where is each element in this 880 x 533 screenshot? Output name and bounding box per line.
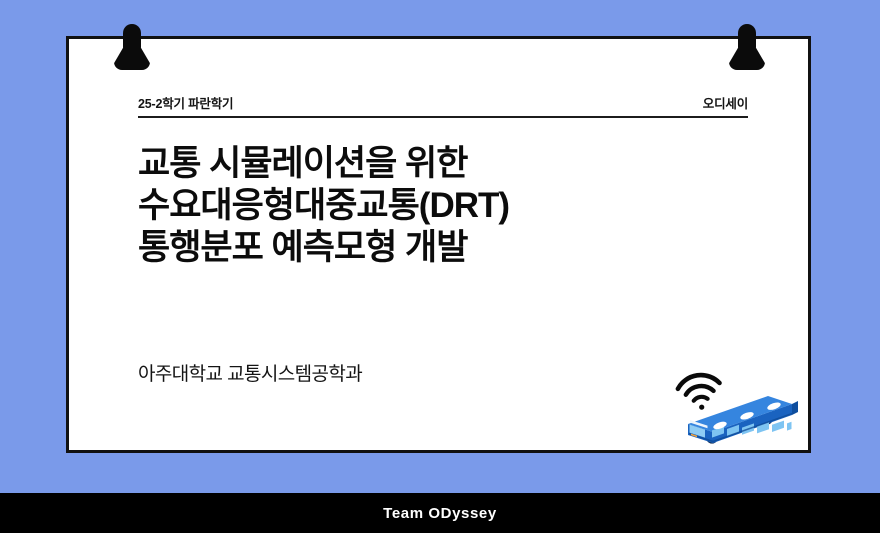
page-title-line-2: 수요대응형대중교통(DRT) (138, 185, 788, 227)
slide-paper: 25-2학기 파란학기 오디세이 교통 시뮬레이션을 위한 수요대응형대중교통(… (66, 36, 811, 453)
affiliation-label: 아주대학교 교통시스템공학과 (138, 359, 362, 386)
page-title-line-3: 통행분포 예측모형 개발 (138, 227, 788, 269)
drt-bus-artwork (672, 362, 802, 452)
header-term-label: 25-2학기 파란학기 (138, 93, 233, 112)
binder-pin-left (110, 24, 154, 70)
bus-icon (688, 396, 798, 444)
header-program-label: 오디세이 (703, 93, 748, 112)
page-title: 교통 시뮬레이션을 위한 수요대응형대중교통(DRT) 통행분포 예측모형 개발 (138, 143, 788, 269)
presentation-title-slide: 25-2학기 파란학기 오디세이 교통 시뮬레이션을 위한 수요대응형대중교통(… (0, 0, 880, 533)
slide-header: 25-2학기 파란학기 오디세이 (138, 93, 748, 112)
binder-pin-right (725, 24, 769, 70)
pin-base-icon (114, 46, 150, 70)
page-title-line-1: 교통 시뮬레이션을 위한 (138, 143, 788, 185)
wifi-signal-icon (676, 372, 722, 412)
team-name-label: Team ODyssey (383, 505, 497, 522)
slide-footer: Team ODyssey (0, 493, 880, 533)
pin-base-icon (729, 46, 765, 70)
header-divider (138, 116, 748, 118)
